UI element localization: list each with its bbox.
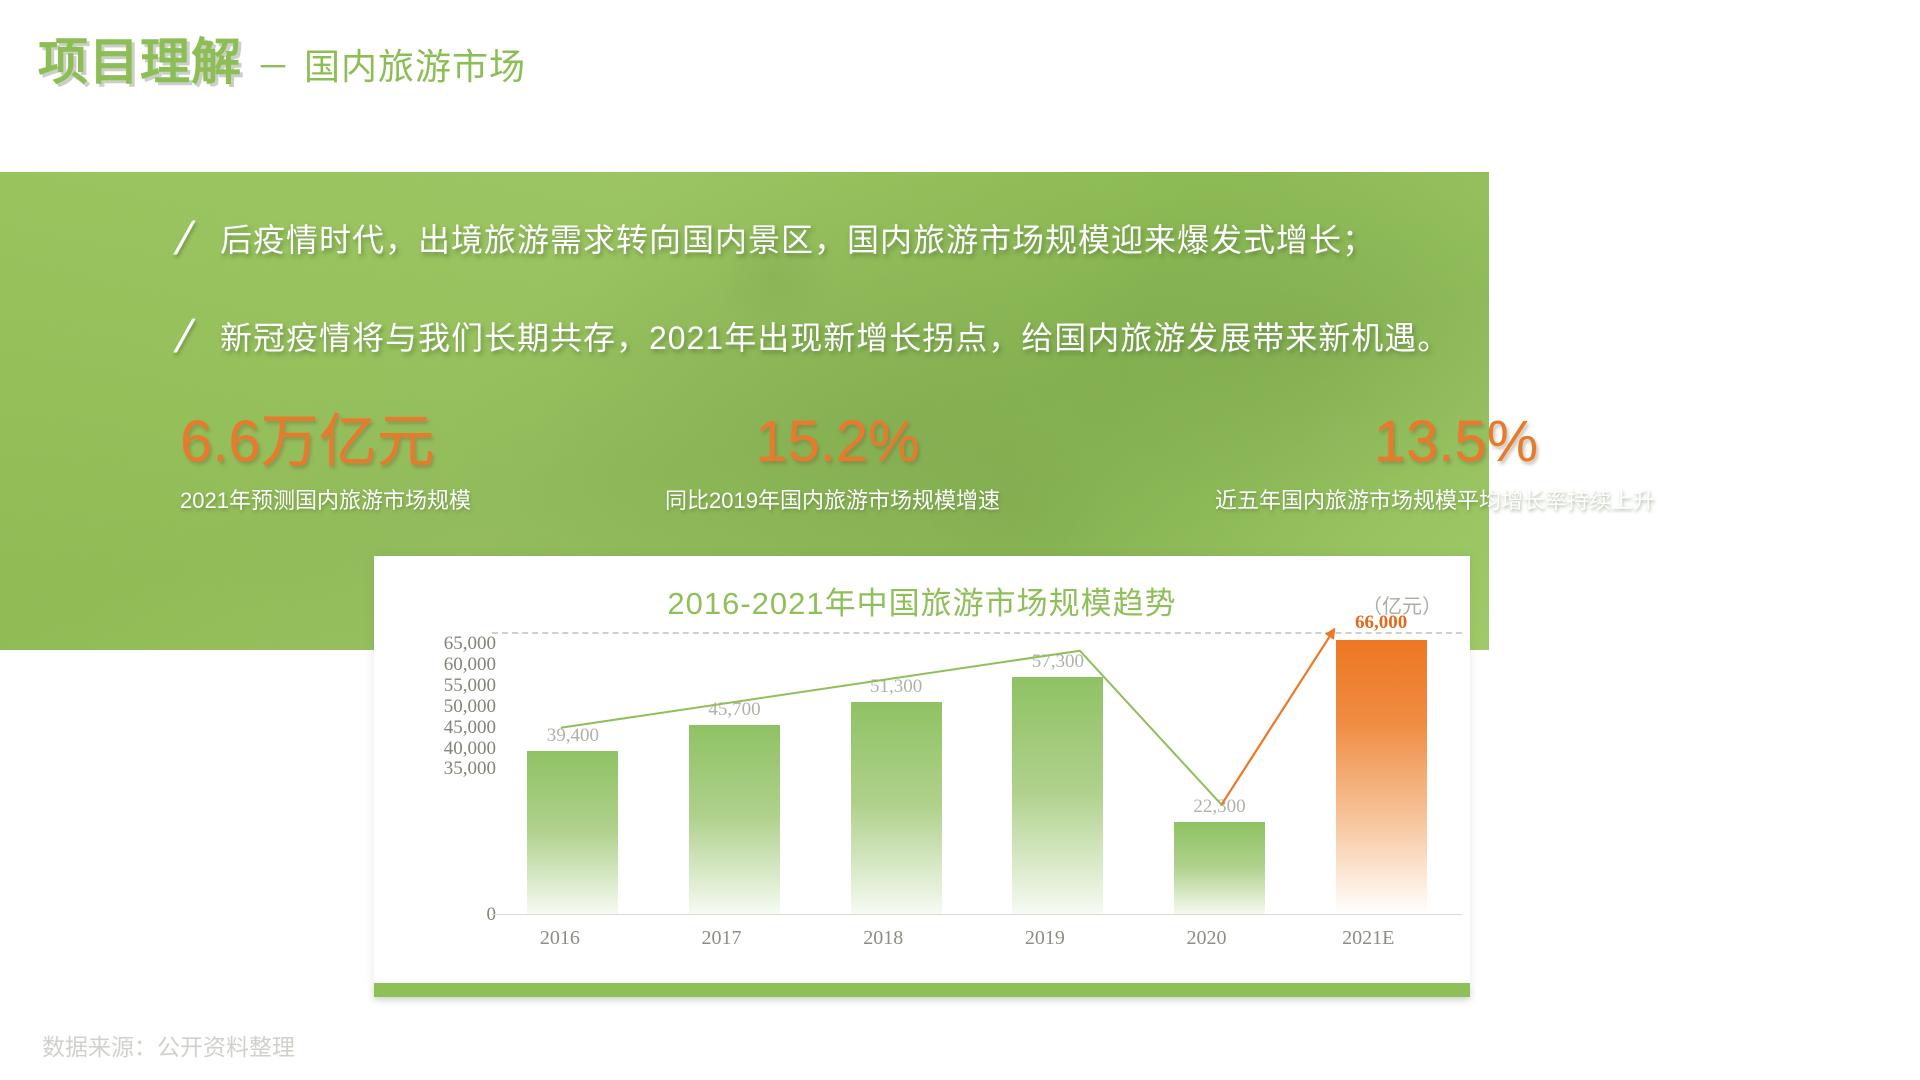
chart-card: 2016-2021年中国旅游市场规模趋势 （亿元） 65,00060,00055… [374, 556, 1470, 983]
bar [527, 751, 618, 915]
bar-value-label: 57,300 [987, 651, 1129, 673]
stat-item-five-year-cagr: 13.5% 近五年国内旅游市场规模平均增长率持续上升 [1215, 412, 1655, 515]
stat-value: 6.6万亿元 [180, 412, 471, 473]
page-title-main: 项目理解 [38, 22, 242, 94]
stat-label: 2021年预测国内旅游市场规模 [180, 483, 471, 515]
x-axis-labels: 201620172018201920202021E [492, 927, 1462, 957]
page-title: 项目理解 － 国内旅游市场 [38, 22, 526, 94]
title-separator: － [256, 40, 290, 89]
y-axis-labels: 65,00060,00055,00050,00045,00040,00035,0… [404, 556, 496, 983]
bar-value-label: 45,700 [663, 699, 805, 721]
bar-slot: 39,400 [502, 632, 644, 915]
y-axis-tick-label: 60,000 [444, 654, 496, 676]
bar-value-label: 39,400 [502, 725, 644, 747]
bar-slot: 57,300 [987, 632, 1129, 915]
bullet-item: / 后疫情时代，出境旅游需求转向国内景区，国内旅游市场规模迎来爆发式增长； [178, 215, 1375, 261]
y-axis-tick-label: 65,000 [444, 633, 496, 655]
y-axis-tick-label: 50,000 [444, 696, 496, 718]
stat-item-market-size: 6.6万亿元 2021年预测国内旅游市场规模 [180, 412, 471, 515]
stat-value: 13.5% [1257, 412, 1655, 473]
stat-value: 15.2% [675, 412, 1000, 473]
y-axis-tick-label: 40,000 [444, 738, 496, 760]
stat-label: 同比2019年国内旅游市场规模增速 [665, 483, 1000, 515]
bar-slot: 51,300 [825, 632, 967, 915]
data-source-note: 数据来源：公开资料整理 [42, 1028, 295, 1062]
y-axis-tick-label: 35,000 [444, 758, 496, 780]
page-title-sub: 国内旅游市场 [304, 38, 526, 90]
bullet-item: / 新冠疫情将与我们长期共存，2021年出现新增长拐点，给国内旅游发展带来新机遇… [178, 313, 1450, 359]
chart-card-accent-bar [374, 983, 1470, 997]
slide-root: 项目理解 － 国内旅游市场 / 后疫情时代，出境旅游需求转向国内景区，国内旅游市… [0, 0, 1920, 1080]
bar-slot: 66,000 [1310, 632, 1452, 915]
bar-series: 39,40045,70051,30057,30022,30066,000 [492, 632, 1462, 915]
y-axis-tick-label: 45,000 [444, 717, 496, 739]
chart-plot-area: 65,00060,00055,00050,00045,00040,00035,0… [374, 556, 1470, 983]
bar-value-label: 51,300 [825, 676, 967, 698]
x-axis-tick-label: 2018 [815, 927, 951, 950]
x-axis-tick-label: 2019 [977, 927, 1113, 950]
x-axis-tick-label: 2016 [492, 927, 628, 950]
bar-forecast [1336, 640, 1427, 915]
bar-value-label: 22,300 [1148, 796, 1290, 818]
bar [1174, 822, 1265, 915]
bar-slot: 22,300 [1148, 632, 1290, 915]
bullet-text: 后疫情时代，出境旅游需求转向国内景区，国内旅游市场规模迎来爆发式增长； [220, 215, 1375, 261]
stat-item-growth-rate: 15.2% 同比2019年国内旅游市场规模增速 [665, 412, 1000, 515]
bar-slot: 45,700 [663, 632, 805, 915]
x-axis-tick-label: 2017 [654, 927, 790, 950]
bar-value-label: 66,000 [1310, 612, 1452, 634]
x-axis-line [492, 914, 1462, 915]
bullet-text: 新冠疫情将与我们长期共存，2021年出现新增长拐点，给国内旅游发展带来新机遇。 [220, 313, 1450, 359]
stat-label: 近五年国内旅游市场规模平均增长率持续上升 [1215, 483, 1655, 515]
x-axis-tick-label: 2021E [1300, 927, 1436, 950]
y-axis-tick-label: 55,000 [444, 675, 496, 697]
bar [1012, 677, 1103, 915]
bar [689, 725, 780, 915]
bar [851, 702, 942, 915]
x-axis-tick-label: 2020 [1139, 927, 1275, 950]
